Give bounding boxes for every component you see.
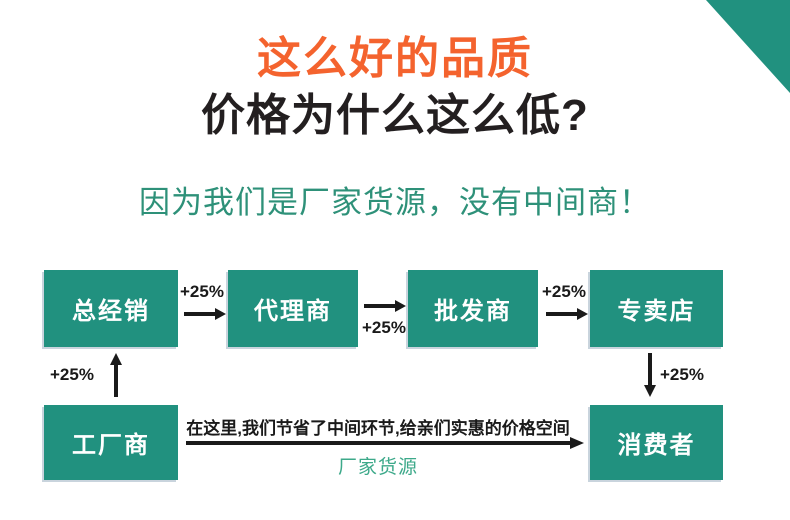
headline-primary: 这么好的品质	[0, 36, 790, 82]
arrow-shaft	[546, 312, 577, 316]
arrow-right-icon	[364, 300, 406, 312]
flow-node-consumer: 消费者	[590, 405, 723, 480]
arrow-right-icon	[546, 308, 588, 320]
headline-subtitle: 因为我们是厂家货源，没有中间商！	[0, 184, 790, 221]
flow-node-label: 代理商	[254, 291, 332, 326]
arrow-shaft	[648, 353, 652, 386]
arrow-shaft	[364, 304, 395, 308]
arrow-head	[110, 353, 122, 365]
arrow-head	[577, 308, 588, 320]
flow-node-label: 工厂商	[72, 425, 150, 460]
arrow-head	[395, 300, 406, 312]
flow-node-label: 总经销	[72, 291, 150, 326]
markup-label-factory-to-dealer: +25%	[50, 365, 94, 385]
markup-label-wholesaler-to-store: +25%	[542, 282, 586, 302]
arrow-right-icon	[184, 308, 226, 320]
flow-node-general-distributor: 总经销	[44, 270, 178, 347]
flow-node-label: 专卖店	[618, 291, 696, 326]
flow-node-factory: 工厂商	[44, 405, 178, 480]
direct-channel-caption-bottom: 厂家货源	[186, 452, 570, 479]
arrow-shaft	[184, 312, 215, 316]
flow-node-agent: 代理商	[228, 270, 358, 347]
markup-label-store-to-consumer: +25%	[660, 365, 704, 385]
flow-node-specialty-store: 专卖店	[590, 270, 723, 347]
arrow-right-long-icon	[186, 437, 584, 449]
arrow-head	[215, 308, 226, 320]
flow-node-wholesaler: 批发商	[408, 270, 538, 347]
flow-node-label: 批发商	[434, 291, 512, 326]
arrow-down-icon	[644, 353, 656, 397]
promo-banner: 这么好的品质 价格为什么这么低? 因为我们是厂家货源，没有中间商！ 总经销 代理…	[0, 0, 790, 520]
arrow-head	[644, 385, 656, 397]
direct-channel-caption-top: 在这里,我们节省了中间环节,给亲们实惠的价格空间	[186, 414, 570, 439]
flow-node-label: 消费者	[618, 425, 696, 460]
arrow-up-icon	[110, 353, 122, 397]
markup-label-dealer-to-agent: +25%	[180, 282, 224, 302]
arrow-shaft	[186, 441, 570, 445]
arrow-head	[570, 437, 584, 449]
markup-label-agent-to-wholesaler: +25%	[362, 318, 406, 338]
headline-secondary: 价格为什么这么低?	[0, 93, 790, 139]
arrow-shaft	[114, 364, 118, 397]
